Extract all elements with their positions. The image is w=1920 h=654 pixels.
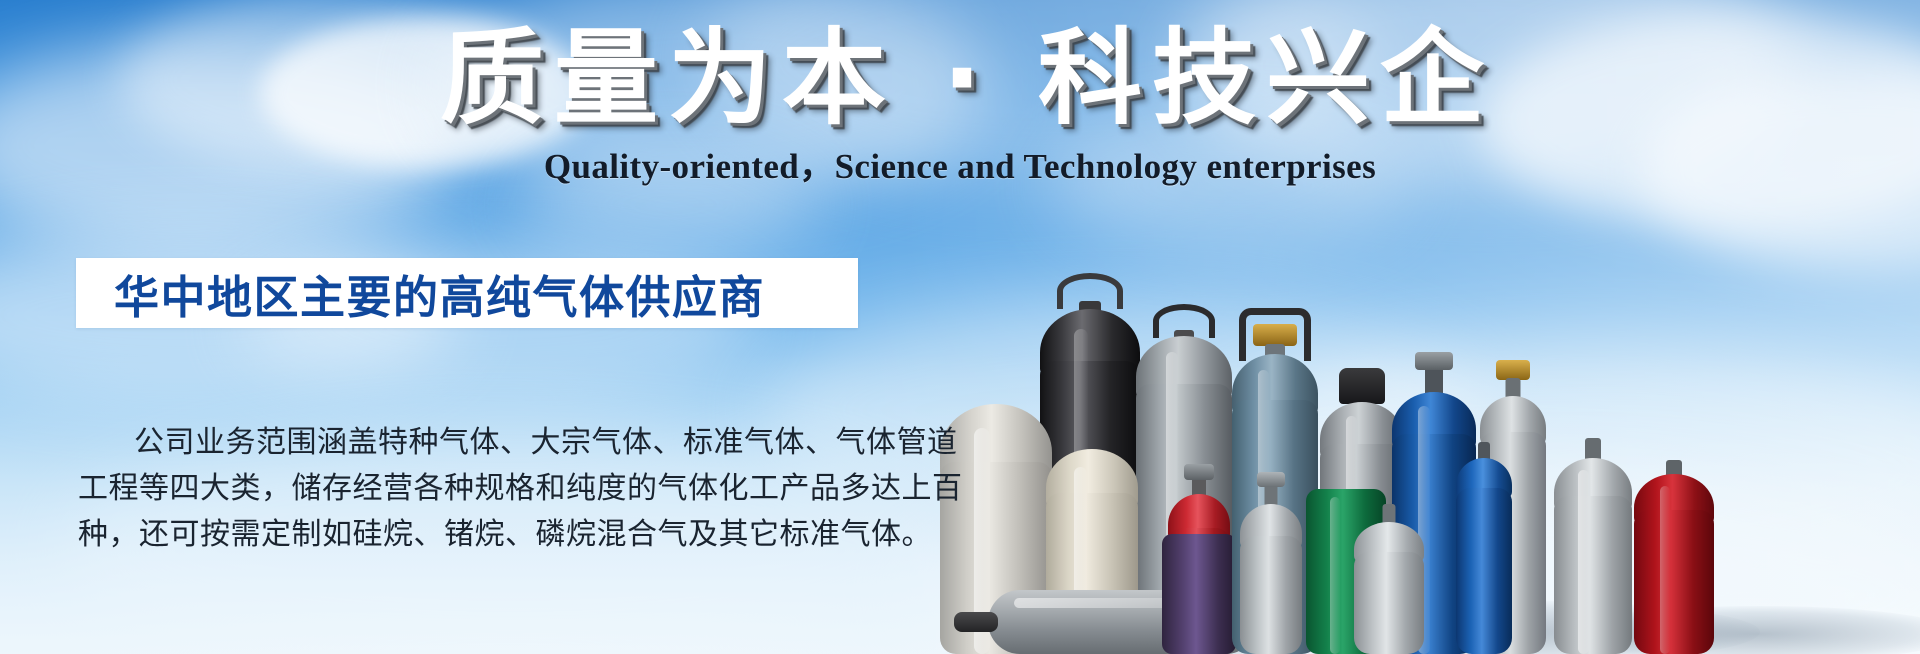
aluminium-short-cylinder <box>1354 522 1424 654</box>
cylinder-body <box>1162 534 1236 654</box>
paragraph-line: 种，还可按需定制如硅烷、锗烷、磷烷混合气及其它标准气体。 <box>78 512 868 558</box>
cylinder-cap <box>1339 368 1385 404</box>
aluminium-tall-cylinder <box>1554 458 1632 654</box>
purple-small-cylinder <box>1162 534 1236 654</box>
description-paragraph: 公司业务范围涵盖特种气体、大宗气体、标准气体、气体管道 工程等四大类，储存经营各… <box>78 420 868 558</box>
cylinder-valve <box>1184 464 1214 480</box>
promo-banner: 质量为本 · 科技兴企 Quality-oriented，Science and… <box>0 0 1920 654</box>
aluminium-cylinder <box>1240 504 1302 654</box>
tank-valve <box>954 612 998 632</box>
highlight-box: 华中地区主要的高纯气体供应商 <box>76 258 858 328</box>
cylinder-body <box>1456 488 1512 654</box>
brass-valve <box>1253 324 1297 346</box>
paragraph-line: 工程等四大类，储存经营各种规格和纯度的气体化工产品多达上百 <box>78 466 868 512</box>
cylinder-body <box>1240 536 1302 654</box>
gas-cylinder-group <box>940 150 1920 654</box>
cylinder-body <box>1634 510 1714 654</box>
cylinder-valve <box>1415 352 1453 370</box>
highlight-box-text: 华中地区主要的高纯气体供应商 <box>76 261 765 326</box>
paragraph-line: 公司业务范围涵盖特种气体、大宗气体、标准气体、气体管道 <box>78 420 868 466</box>
cylinder-body <box>1354 552 1424 654</box>
blue-slim-cylinder <box>1456 458 1512 654</box>
dark-red-cylinder <box>1634 474 1714 654</box>
brass-valve <box>1496 360 1530 380</box>
cylinder-valve <box>1257 472 1285 487</box>
cylinder-body <box>1554 496 1632 654</box>
